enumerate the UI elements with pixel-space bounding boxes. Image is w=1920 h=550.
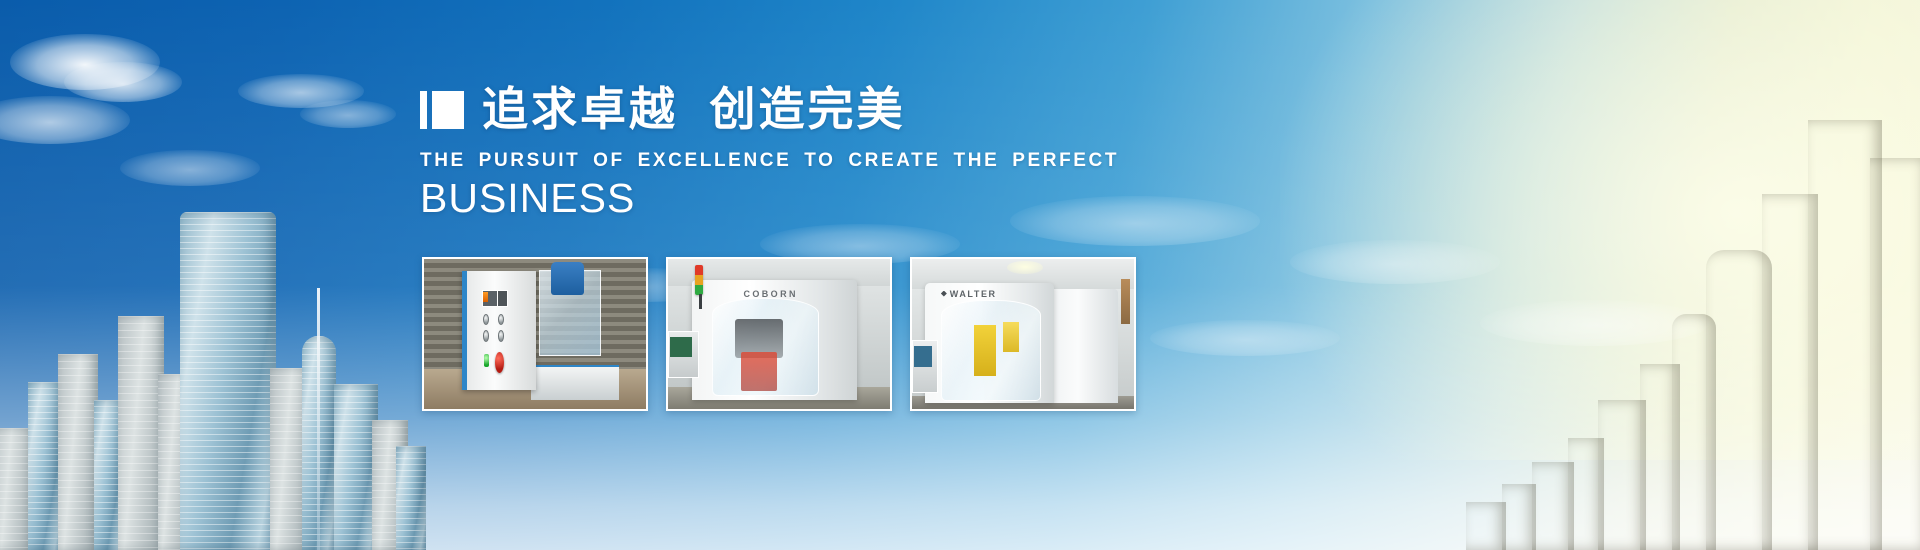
banner-headline: 追求卓越 创造完美 [482, 86, 906, 134]
machine-internal-yellow-part [974, 325, 996, 376]
photo-1-scene [424, 259, 646, 409]
machine-photo-2[interactable]: COBORN [666, 257, 892, 411]
control-panel [462, 271, 536, 390]
machine-secondary-cabinet [1045, 289, 1118, 403]
banner-text-block: 追求卓越 创造完美 THE PURSUIT OF EXCELLENCE TO C… [420, 86, 1119, 221]
stack-light-icon [695, 265, 703, 295]
stack-light-pole [699, 294, 702, 309]
photo-3-scene: WALTER [912, 259, 1134, 409]
machine-brand-label: COBORN [743, 289, 797, 299]
machine-internal-red-part [741, 352, 777, 391]
control-knob-2 [498, 314, 504, 325]
wall-duct [1121, 279, 1130, 324]
emergency-stop-button-icon [495, 352, 504, 373]
machine-photo-3[interactable]: WALTER [910, 257, 1136, 411]
banner-tagline: BUSINESS [420, 176, 1119, 221]
ceiling-lamp-icon [1007, 261, 1043, 275]
machine-motor-head [551, 262, 584, 295]
panel-display-secondary [497, 290, 508, 307]
control-knob-4 [498, 330, 504, 341]
control-knob-1 [483, 314, 489, 325]
photo-2-scene: COBORN [668, 259, 890, 409]
operator-console-screen [914, 346, 932, 367]
headline-row: 追求卓越 创造完美 [420, 86, 1119, 134]
control-knob-3 [483, 330, 489, 341]
green-indicator-icon [484, 354, 489, 367]
machine-internal-yellow-part-2 [1003, 322, 1019, 352]
logo-block-shape [432, 91, 464, 129]
hero-banner: 追求卓越 创造完美 THE PURSUIT OF EXCELLENCE TO C… [0, 0, 1920, 550]
amber-indicator-icon [483, 292, 488, 301]
operator-console-screen [670, 337, 692, 357]
company-logo-mark-icon [420, 91, 464, 129]
machine-photo-strip: COBORN WALTER [422, 257, 1136, 411]
machine-base [531, 365, 620, 400]
machine-brand-label: WALTER [950, 289, 997, 299]
machine-photo-1[interactable] [422, 257, 648, 411]
banner-subtitle: THE PURSUIT OF EXCELLENCE TO CREATE THE … [420, 150, 1119, 172]
logo-bar-shape [420, 91, 427, 129]
